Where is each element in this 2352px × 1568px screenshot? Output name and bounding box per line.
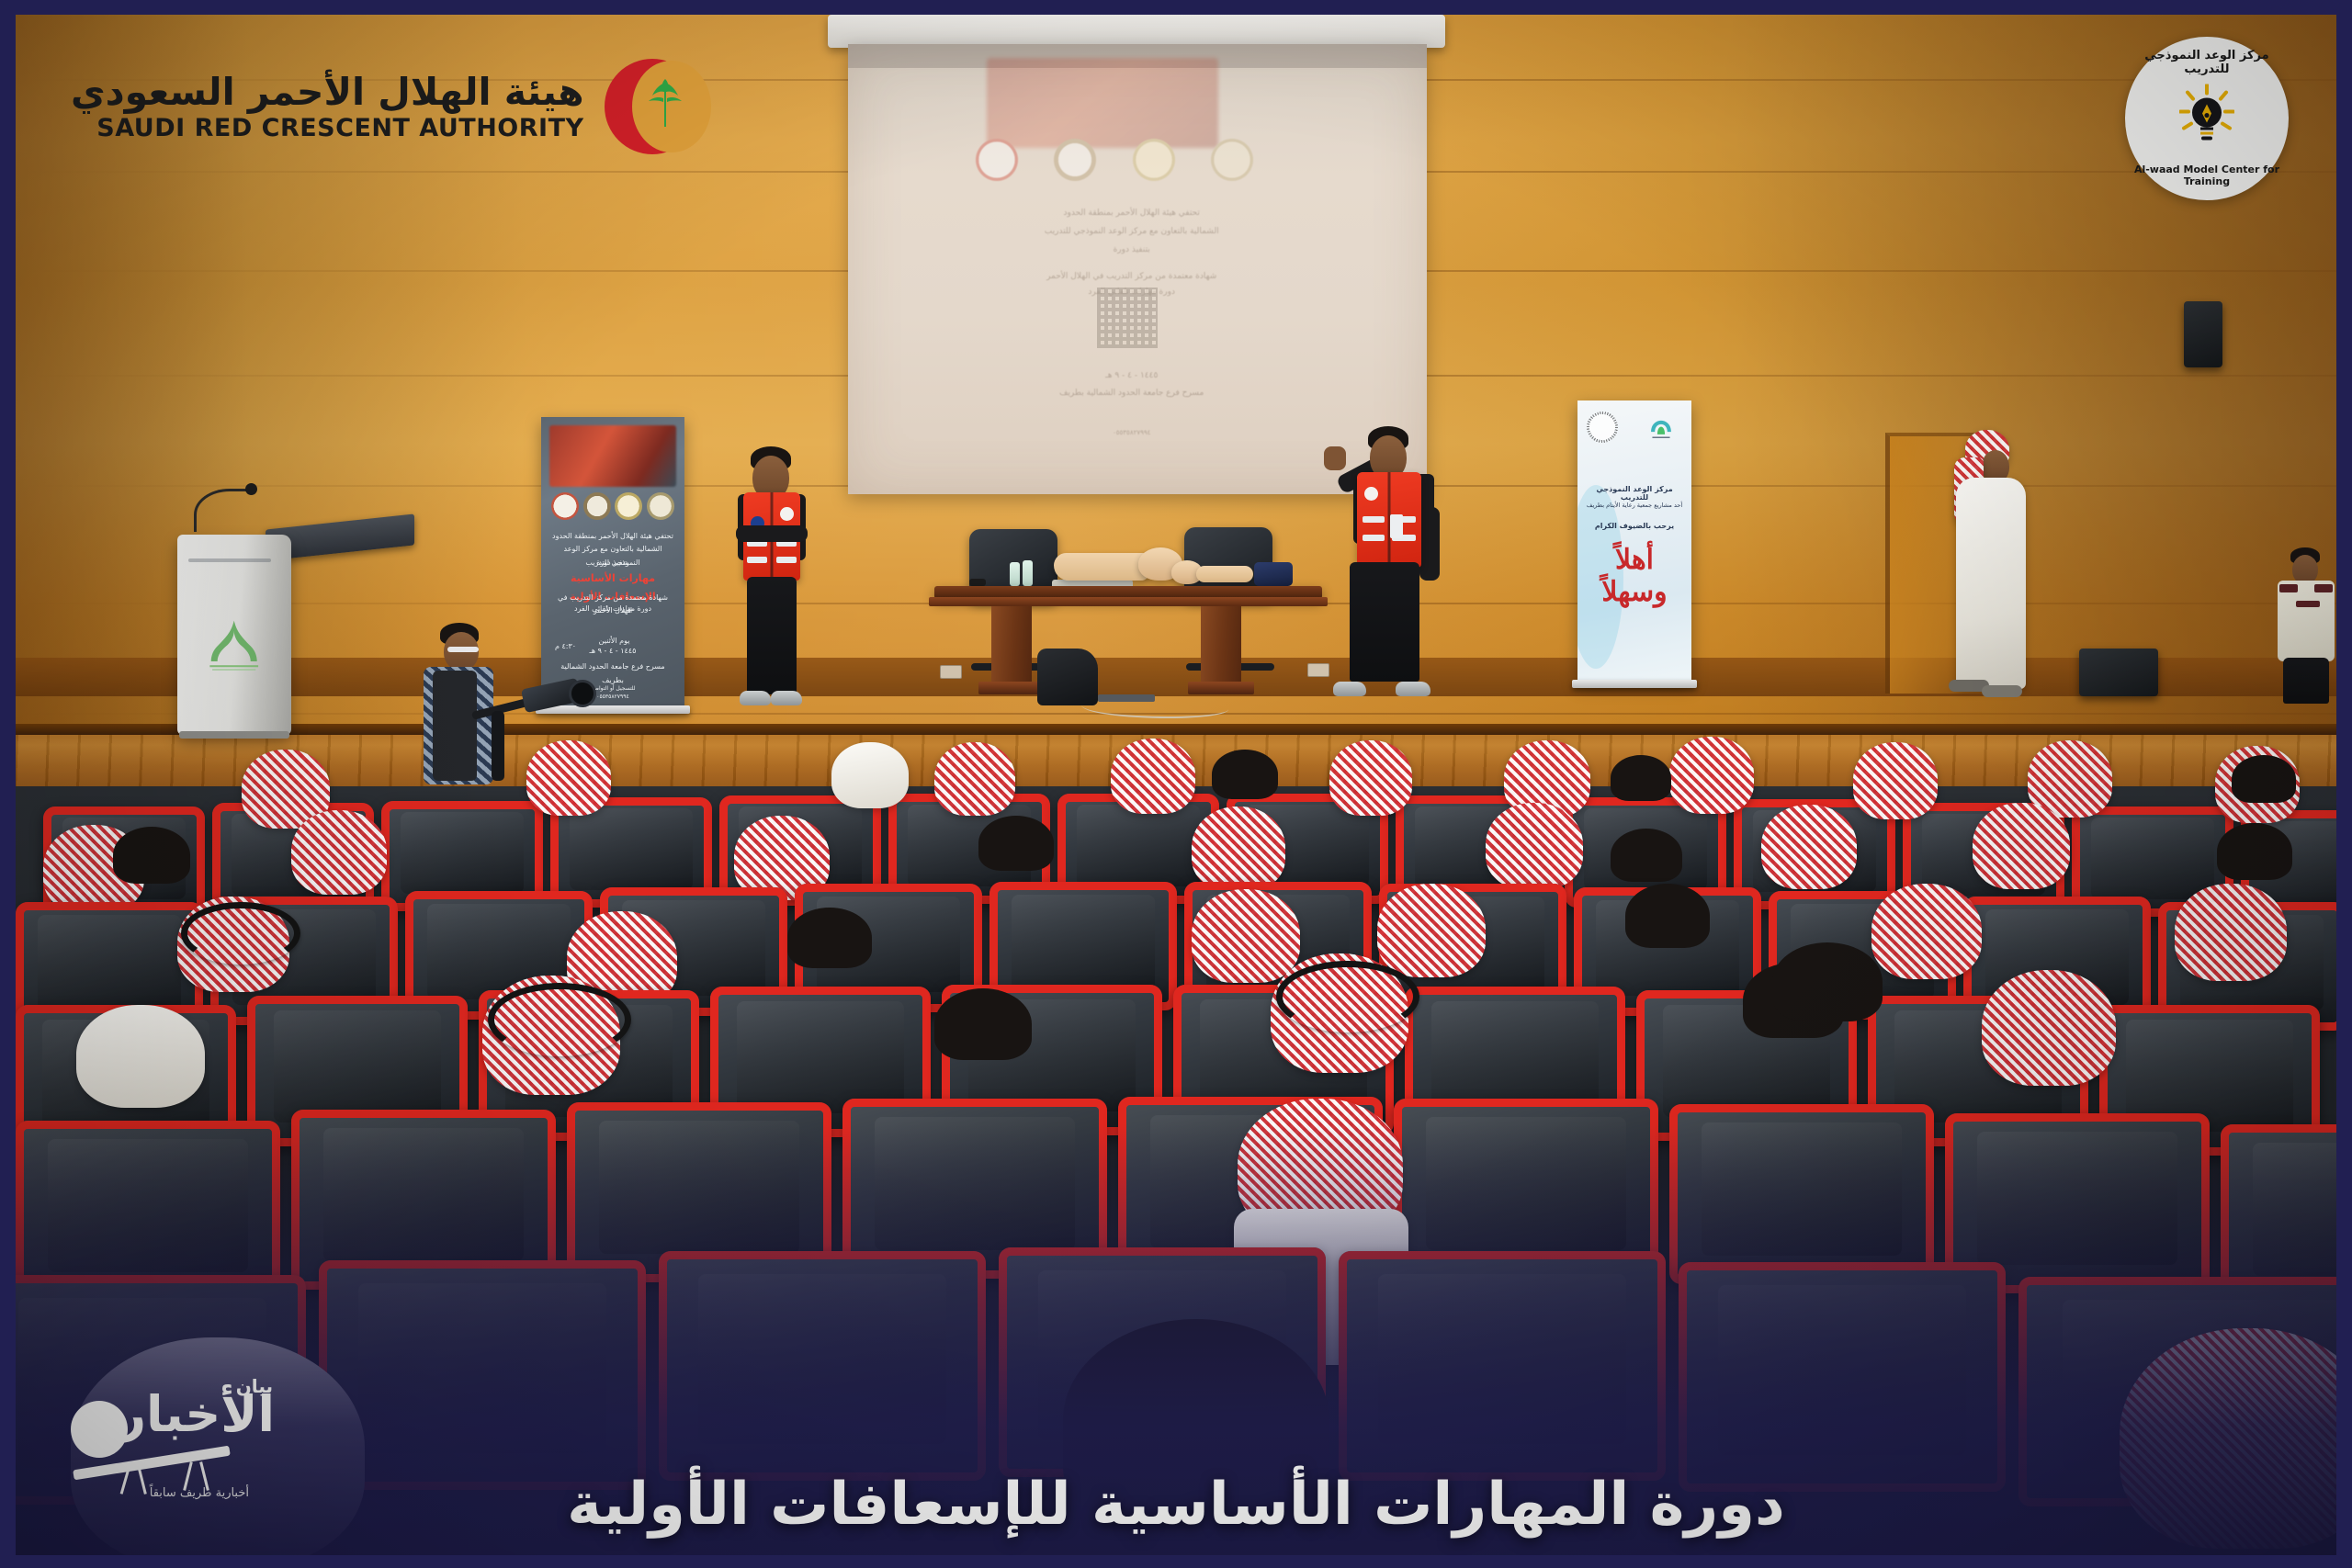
table-leg-right bbox=[1201, 606, 1241, 685]
attendee-headwear bbox=[1192, 889, 1300, 983]
attendee-hair bbox=[1611, 755, 1671, 801]
presenter-right-raised-fist bbox=[1324, 446, 1346, 470]
banner-right-line-2: أحد مشاريع جمعية رعاية الأيتام بطريف bbox=[1584, 502, 1684, 509]
attendee-headwear bbox=[1486, 803, 1583, 889]
presenter-right-lower-arm bbox=[1419, 507, 1440, 581]
al-waad-center-logo: مركز الوعد النموذجي للتدريب Al- bbox=[2125, 37, 2289, 200]
presenter-left-reflective-4 bbox=[776, 557, 797, 563]
rollup-banner-left: تحتفي هيئة الهلال الأحمر بمنطقة الحدود ا… bbox=[541, 417, 684, 707]
attendee-hair bbox=[1625, 884, 1710, 948]
attendee-headwear bbox=[1111, 739, 1195, 814]
banner-right-foot bbox=[1572, 680, 1697, 688]
attendee-hair bbox=[2217, 823, 2292, 880]
cameraman-glasses bbox=[447, 647, 479, 652]
presenter-right-id-card bbox=[1390, 514, 1403, 538]
page-title: دورة المهارات الأساسية للإسعافات الأولية bbox=[16, 1471, 2336, 1539]
attendee-headwear bbox=[1329, 740, 1412, 816]
slide-logo-row bbox=[976, 139, 1253, 181]
banner-logo-fourth bbox=[647, 492, 674, 520]
attendee-hair bbox=[1611, 829, 1682, 882]
slide-content: تحتفي هيئة الهلال الأحمر بمنطقة الحدود ا… bbox=[848, 44, 1427, 494]
guard-uniform-shirt bbox=[2278, 581, 2335, 661]
remote-control[interactable] bbox=[969, 579, 986, 586]
banner-left-line-3: بتنفيذ دورة bbox=[551, 557, 674, 570]
presenter-right-vest bbox=[1357, 472, 1421, 568]
blue-equipment-bag[interactable] bbox=[1254, 562, 1293, 586]
projection-screen-case bbox=[828, 15, 1445, 48]
srca-arabic-name: هيئة الهلال الأحمر السعودي bbox=[71, 71, 584, 114]
slide-venue-line: مسرح فرع جامعة الحدود الشمالية بطريف bbox=[964, 386, 1299, 401]
banner-left-logo-row bbox=[551, 492, 674, 520]
slide-date-line: ١٤٤٥ - ٤ - ٩ هـ bbox=[964, 368, 1299, 384]
lightbulb-pen-icon bbox=[2179, 85, 2234, 151]
news-logo-tagline: أخبارية طريف سابقاً bbox=[150, 1486, 249, 1500]
attendee-headwear bbox=[1853, 742, 1938, 819]
attendee-hair bbox=[978, 816, 1054, 871]
attendee-hair bbox=[2232, 755, 2296, 803]
presenter-left-badge bbox=[780, 507, 794, 521]
banner-left-foot bbox=[536, 705, 690, 714]
presenter-left-legs bbox=[747, 577, 797, 694]
attendee-hair bbox=[934, 988, 1032, 1060]
attendee-hair bbox=[787, 908, 872, 968]
presenter-left-arms-crossed bbox=[736, 525, 808, 542]
podium-brand-logo bbox=[202, 603, 266, 694]
banner-left-time: ٤:٣٠ م bbox=[547, 640, 584, 653]
presenter-left-reflective-3 bbox=[747, 557, 767, 563]
telescope-leg-2 bbox=[137, 1465, 147, 1495]
banner-left-line-1: تحتفي هيئة الهلال الأحمر بمنطقة الحدود bbox=[551, 530, 674, 543]
gimbal-handle[interactable] bbox=[492, 711, 504, 781]
table-leg-left bbox=[991, 606, 1032, 685]
banner-logo-second bbox=[583, 492, 611, 520]
guard-epaulette-right bbox=[2314, 584, 2333, 592]
slide-qr-code bbox=[1097, 288, 1158, 348]
badge-english-name: Al-waad Model Center for Training bbox=[2125, 164, 2289, 187]
attendee-hair bbox=[1212, 750, 1278, 799]
attendee-headwear bbox=[934, 742, 1015, 816]
attendee-headwear bbox=[291, 810, 387, 895]
stage-edge bbox=[16, 724, 2336, 735]
table-foot-right bbox=[1188, 682, 1254, 694]
cpr-manikin-adult-torso[interactable] bbox=[1054, 553, 1149, 581]
podium-vent bbox=[188, 558, 270, 562]
attendee-igal bbox=[181, 902, 300, 964]
saudi-red-crescent-logo: هيئة الهلال الأحمر السعودي SAUDI RED CRE… bbox=[71, 59, 700, 154]
banner-right-welcome: أهلاً وسهلاً bbox=[1584, 544, 1684, 608]
photograph: تحتفي هيئة الهلال الأحمر بمنطقة الحدود ا… bbox=[16, 15, 2336, 1555]
palm-tree-icon bbox=[647, 73, 684, 130]
attendee-hair bbox=[1772, 942, 1883, 1021]
table-foot-left bbox=[978, 682, 1045, 694]
banner-right-orphan-society-logo bbox=[1642, 414, 1680, 442]
presenter-right-reflective-1 bbox=[1363, 516, 1385, 523]
slide-text-block-3: بتنفيذ دورة bbox=[964, 243, 1299, 258]
news-logo-large-text: الأخبار bbox=[118, 1390, 275, 1439]
table-lip bbox=[929, 597, 1328, 606]
attendee-headwear bbox=[1377, 884, 1486, 977]
podium-microphone-head bbox=[245, 483, 257, 495]
guard-name-tag bbox=[2296, 601, 2320, 607]
stage-monitor-speaker bbox=[2079, 649, 2158, 696]
presenter-left-shoe-2 bbox=[771, 691, 802, 705]
cpr-manikin-infant-body[interactable] bbox=[1196, 566, 1253, 582]
banner-left-sub-2: دورة مهارات تلقائي الفرد bbox=[551, 603, 674, 615]
srca-english-name: SAUDI RED CRESCENT AUTHORITY bbox=[71, 114, 584, 142]
banner-right-line-3: يرحب بالضيوف الكرام bbox=[1584, 522, 1684, 530]
red-crescent-icon bbox=[605, 59, 700, 154]
attendee-thobe bbox=[1956, 478, 2026, 689]
screenshot-root: تحتفي هيئة الهلال الأحمر بمنطقة الحدود ا… bbox=[0, 0, 2352, 1568]
presenter-right-reflective-3 bbox=[1363, 535, 1385, 541]
slide-text-block-2: الشمالية بالتعاون مع مركز الوعد النموذجي… bbox=[964, 224, 1299, 240]
slide-hero-photo bbox=[987, 58, 1218, 148]
attendee-headwear bbox=[76, 1005, 205, 1108]
badge-arabic-name: مركز الوعد النموذجي للتدريب bbox=[2125, 49, 2289, 76]
water-bottle-1 bbox=[1010, 562, 1020, 586]
water-bottle-2 bbox=[1023, 560, 1033, 586]
banner-right-line-1: مركز الوعد النموذجي للتدريب bbox=[1584, 485, 1684, 502]
banner-left-date-hijri: ١٤٤٥ - ٤ - ٩ هـ bbox=[582, 645, 645, 658]
slide-contact-line: ٠٥٥٣٥٨٢٧٩٩٤ bbox=[964, 427, 1299, 439]
attendee-headwear bbox=[526, 740, 611, 816]
attendee-headwear bbox=[2175, 884, 2287, 981]
presenter-right-shoe-2 bbox=[1396, 682, 1430, 696]
rollup-banner-right: مركز الوعد النموذجي للتدريب أحد مشاريع ج… bbox=[1577, 400, 1691, 682]
attendee-igal bbox=[488, 983, 631, 1056]
presenter-right-shoe-1 bbox=[1333, 682, 1366, 696]
camera-lens bbox=[569, 680, 596, 707]
attendee-hair bbox=[113, 827, 190, 884]
wall-outlet-left bbox=[940, 665, 962, 679]
cameraman-vest bbox=[433, 671, 477, 781]
attendee-headwear bbox=[1669, 737, 1754, 814]
presenter-right-legs bbox=[1350, 562, 1419, 682]
guard-legs bbox=[2283, 658, 2329, 704]
projection-screen: تحتفي هيئة الهلال الأحمر بمنطقة الحدود ا… bbox=[848, 44, 1427, 494]
banner-logo-third bbox=[615, 492, 642, 520]
attendee-headwear bbox=[1973, 803, 2070, 889]
slide-text-block-1: تحتفي هيئة الهلال الأحمر بمنطقة الحدود bbox=[964, 206, 1299, 221]
slide-text-block-4: شهادة معتمدة من مركز التدريب في الهلال ا… bbox=[964, 269, 1299, 285]
wall-speaker bbox=[2184, 301, 2222, 367]
attendee-sandal-2 bbox=[1982, 685, 2022, 697]
srca-text-block: هيئة الهلال الأحمر السعودي SAUDI RED CRE… bbox=[71, 71, 584, 142]
banner-right-center-logo bbox=[1587, 412, 1618, 443]
attendee-headwear bbox=[1871, 884, 1982, 979]
banner-left-photo bbox=[549, 425, 675, 486]
attendee-headwear bbox=[1982, 970, 2116, 1086]
guard-epaulette-left bbox=[2279, 584, 2298, 592]
banner-logo-red-crescent bbox=[551, 492, 579, 520]
attendee-headwear bbox=[1761, 805, 1857, 889]
presenter-left-shoe-1 bbox=[740, 691, 771, 705]
wall-outlet-right bbox=[1307, 663, 1329, 677]
attendee-headwear bbox=[1192, 807, 1285, 891]
podium-base bbox=[179, 731, 289, 739]
attendee-headwear bbox=[831, 742, 909, 808]
presenter-right-badge bbox=[1364, 487, 1378, 501]
podium-body[interactable] bbox=[177, 535, 291, 735]
bayan-al-akhbar-logo: بيان الأخبار أخبارية طريف سابقاً bbox=[63, 1370, 275, 1507]
attendee-igal bbox=[1276, 961, 1419, 1032]
floor-power-strip bbox=[1098, 694, 1155, 702]
